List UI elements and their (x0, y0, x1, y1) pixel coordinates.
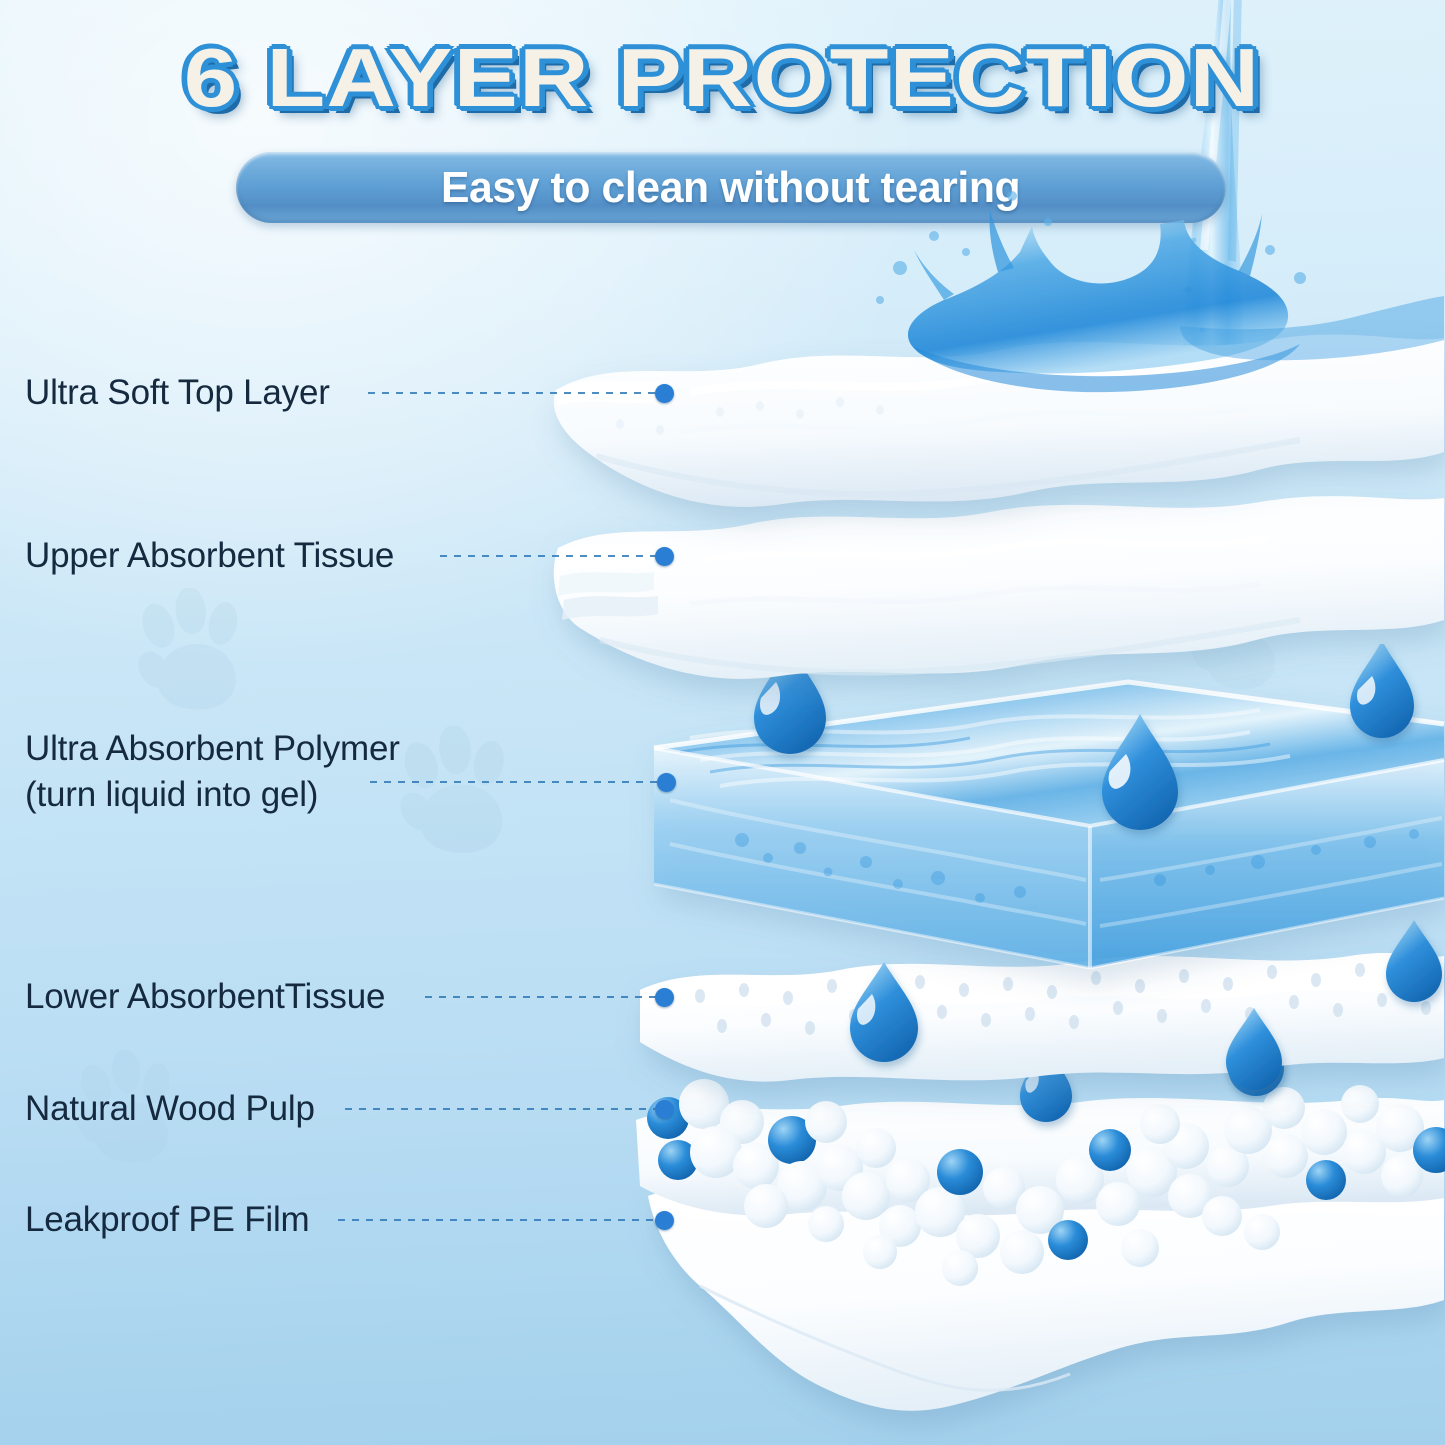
page-title: 6 LAYER PROTECTION (184, 36, 1261, 120)
layer-lower-absorbent-tissue (640, 920, 1444, 1090)
layer-leakproof-pe-film (648, 1182, 1444, 1411)
water-droplet-icon (1386, 920, 1442, 1002)
leader-line-upper-absorbent-tissue (440, 555, 658, 557)
infographic-canvas: 6 LAYER PROTECTION Easy to clean without… (0, 0, 1445, 1445)
leader-dot-natural-wood-pulp (655, 1100, 674, 1119)
paw-print-icon (130, 588, 260, 728)
water-droplet-icon (1102, 714, 1178, 830)
leader-dot-lower-absorbent-tissue (655, 988, 674, 1007)
subtitle-text: Easy to clean without tearing (441, 163, 1020, 213)
label-ultra-soft-top-layer: Ultra Soft Top Layer (25, 371, 330, 414)
layer-ultra-absorbent-polymer (654, 682, 1444, 968)
water-droplet-icon (1350, 644, 1414, 738)
label-leakproof-pe-film: Leakproof PE Film (25, 1198, 310, 1241)
leader-line-natural-wood-pulp (345, 1108, 658, 1110)
leader-line-leakproof-pe-film (338, 1219, 658, 1221)
label-upper-absorbent-tissue: Upper Absorbent Tissue (25, 534, 394, 577)
bead-cluster (647, 1079, 1445, 1286)
label-ultra-absorbent-polymer-line2: (turn liquid into gel) (25, 772, 495, 818)
water-droplet-icon (754, 646, 826, 754)
subtitle-banner: Easy to clean without tearing (236, 152, 1226, 223)
label-ultra-absorbent-polymer-line1: Ultra Absorbent Polymer (25, 726, 495, 772)
leader-dot-upper-absorbent-tissue (655, 547, 674, 566)
layer-natural-wood-pulp (636, 1014, 1445, 1286)
layer-ultra-soft-top-layer (554, 335, 1444, 507)
title-block: 6 LAYER PROTECTION (0, 36, 1445, 120)
leader-dot-ultra-absorbent-polymer (657, 773, 676, 792)
water-droplet-icon (1228, 1014, 1284, 1096)
leader-dot-ultra-soft-top-layer (655, 384, 674, 403)
label-natural-wood-pulp: Natural Wood Pulp (25, 1087, 315, 1130)
label-ultra-absorbent-polymer: Ultra Absorbent Polymer (turn liquid int… (25, 726, 495, 818)
leader-dot-leakproof-pe-film (655, 1211, 674, 1230)
water-droplet-icon (1020, 1048, 1072, 1122)
leader-line-ultra-soft-top-layer (368, 392, 658, 394)
leader-line-lower-absorbent-tissue (425, 996, 658, 998)
label-lower-absorbent-tissue: Lower AbsorbentTissue (25, 975, 385, 1018)
water-droplet-icon (850, 962, 918, 1062)
water-droplet-icon (1226, 1008, 1282, 1090)
layer-upper-absorbent-tissue (554, 496, 1444, 679)
paw-print-icon (1185, 585, 1295, 705)
